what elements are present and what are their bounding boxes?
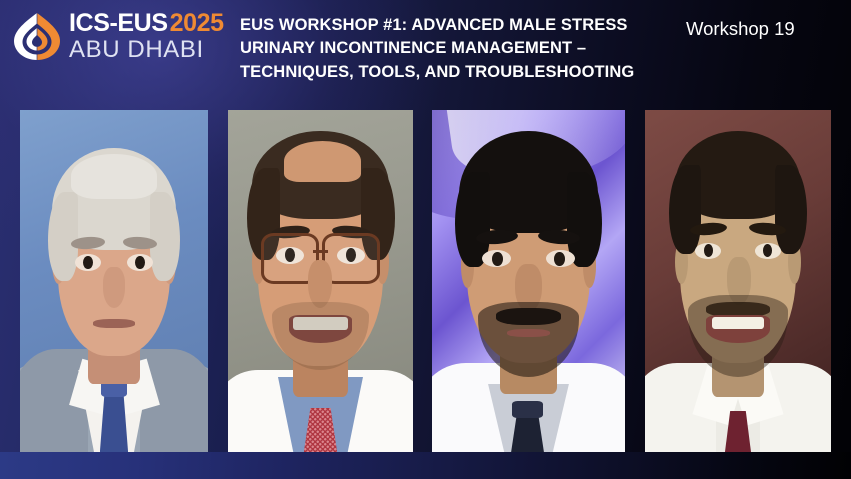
- logo-city: ABU DHABI: [69, 38, 224, 62]
- speaker-photo-1: [20, 110, 208, 452]
- logo-name: ICS-EUS: [69, 9, 168, 37]
- footer-gradient-bar: [0, 452, 851, 479]
- session-title-line-3: TECHNIQUES, TOOLS, AND TROUBLESHOOTING: [240, 61, 660, 84]
- session-title: EUS WORKSHOP #1: ADVANCED MALE STRESS UR…: [240, 14, 660, 84]
- session-title-line-1: EUS WORKSHOP #1: ADVANCED MALE STRESS: [240, 14, 660, 37]
- session-title-line-2: URINARY INCONTINENCE MANAGEMENT –: [240, 37, 660, 60]
- conference-logo-text: ICS-EUS2025 ABU DHABI: [69, 11, 224, 62]
- logo-year: 2025: [170, 9, 224, 37]
- conference-logo: ICS-EUS2025 ABU DHABI: [12, 10, 224, 62]
- speaker-photo-2: [228, 110, 413, 452]
- speaker-photo-strip: [0, 110, 851, 452]
- speaker-photo-4: [645, 110, 831, 452]
- presentation-slide: ICS-EUS2025 ABU DHABI EUS WORKSHOP #1: A…: [0, 0, 851, 479]
- ics-eus-droplet-logo-icon: [12, 10, 62, 62]
- slide-header: ICS-EUS2025 ABU DHABI EUS WORKSHOP #1: A…: [0, 0, 851, 104]
- speaker-photo-3: [432, 110, 625, 452]
- workshop-number-label: Workshop 19: [686, 18, 795, 40]
